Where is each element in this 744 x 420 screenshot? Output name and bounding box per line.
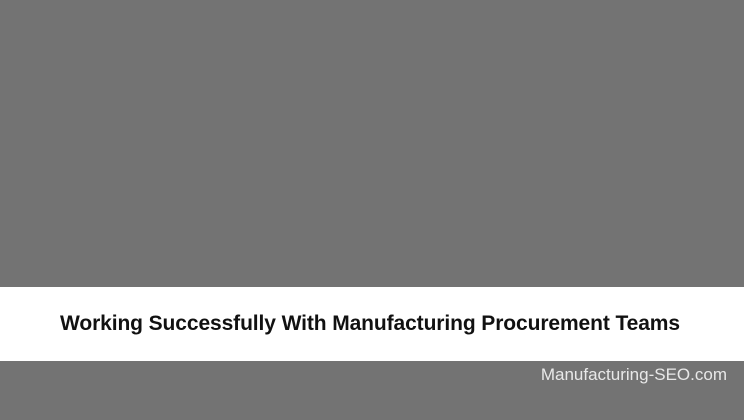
footer-band: Manufacturing-SEO.com: [0, 361, 744, 420]
hero-image-placeholder: [0, 0, 744, 287]
slide-canvas: Working Successfully With Manufacturing …: [0, 0, 744, 420]
site-url-attribution: Manufacturing-SEO.com: [541, 365, 727, 385]
page-title: Working Successfully With Manufacturing …: [0, 312, 680, 336]
title-band: Working Successfully With Manufacturing …: [0, 287, 744, 361]
